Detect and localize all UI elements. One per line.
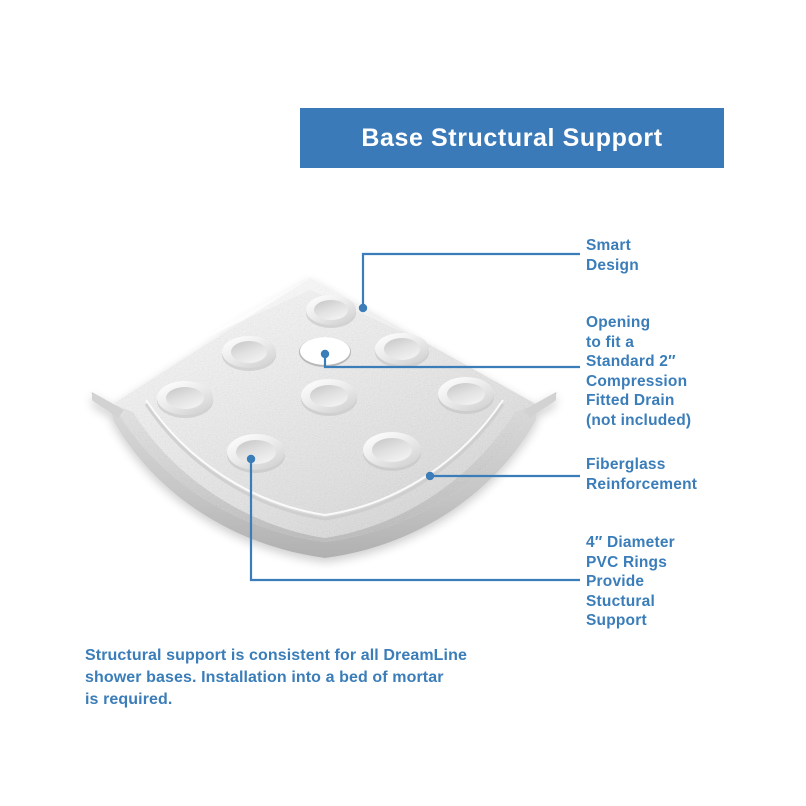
leader-lines — [251, 254, 580, 580]
pvc-ring — [222, 336, 276, 371]
shower-base-body — [90, 278, 558, 558]
pvc-ring — [363, 432, 421, 471]
annotation-pvc-rings: 4″ Diameter PVC Rings Provide Stuctural … — [586, 533, 675, 631]
annotation-line: Standard 2″ — [586, 352, 691, 372]
caption-line: is required. — [85, 689, 515, 711]
leader-drain-opening — [325, 354, 580, 367]
product-infographic: Base Structural Support — [0, 0, 806, 806]
annotation-line: (not included) — [586, 411, 691, 431]
base-apex-highlight — [200, 278, 420, 340]
annotation-fiberglass-reinforcement: Fiberglass Reinforcement — [586, 455, 697, 494]
caption-line: shower bases. Installation into a bed of… — [85, 667, 515, 689]
annotation-line: Opening — [586, 313, 691, 333]
base-side-wall — [110, 404, 536, 558]
caption-line: Structural support is consistent for all… — [85, 645, 515, 667]
base-inner-groove — [146, 404, 503, 519]
annotation-line: PVC Rings — [586, 553, 675, 573]
leader-dot-drain-opening — [321, 350, 329, 358]
base-inner-groove-highlight — [146, 400, 503, 515]
pvc-ring — [301, 379, 357, 416]
pvc-ring — [375, 333, 429, 368]
pvc-ring — [306, 295, 356, 328]
base-right-flange — [530, 392, 558, 411]
base-rim-band — [113, 404, 536, 542]
pvc-ring-group — [157, 295, 494, 473]
annotation-line: to fit a — [586, 333, 691, 353]
annotation-drain-opening: Opening to fit a Standard 2″ Compression… — [586, 313, 691, 430]
leader-dot-fiberglass — [426, 472, 434, 480]
drain-opening — [299, 337, 351, 367]
annotation-line: Stuctural — [586, 592, 675, 612]
annotation-line: Smart — [586, 236, 639, 256]
annotation-line: Provide — [586, 572, 675, 592]
base-top-face — [113, 278, 536, 542]
leader-dots — [247, 304, 434, 480]
base-left-flange — [90, 392, 118, 411]
header-banner: Base Structural Support — [300, 108, 724, 168]
annotation-line: Compression — [586, 372, 691, 392]
annotation-line: Reinforcement — [586, 475, 697, 495]
leader-dot-smart-design — [359, 304, 367, 312]
base-left-flange-tip — [92, 392, 124, 418]
leader-smart-design — [363, 254, 580, 308]
pvc-ring — [438, 377, 494, 414]
annotation-line: Support — [586, 611, 675, 631]
footer-caption: Structural support is consistent for all… — [85, 645, 515, 711]
annotation-line: 4″ Diameter — [586, 533, 675, 553]
page-title: Base Structural Support — [361, 124, 662, 153]
pvc-ring — [157, 381, 213, 418]
annotation-line: Fitted Drain — [586, 391, 691, 411]
pvc-ring — [227, 434, 285, 473]
base-right-flange-tip — [524, 392, 556, 418]
annotation-smart-design: Smart Design — [586, 236, 639, 275]
leader-dot-pvc-rings — [247, 455, 255, 463]
annotation-line: Design — [586, 256, 639, 276]
leader-pvc-rings — [251, 459, 580, 580]
annotation-line: Fiberglass — [586, 455, 697, 475]
